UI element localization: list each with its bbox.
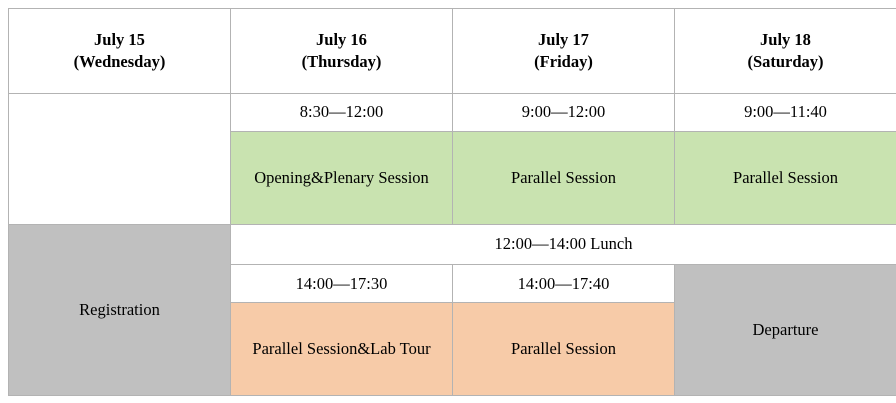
morning-time-thursday: 8:30―12:00 [231,93,453,131]
day-header-weekday: (Friday) [459,51,668,73]
day-header-weekday: (Thursday) [237,51,446,73]
day-header-date: July 18 [681,29,890,51]
day-header-july-16: July 16 (Thursday) [231,9,453,94]
table-row-lunch: Registration 12:00―14:00 Lunch [9,224,896,264]
schedule-container: July 15 (Wednesday) July 16 (Thursday) J… [0,0,896,403]
conference-schedule-table: July 15 (Wednesday) July 16 (Thursday) J… [8,8,896,396]
registration-cell: Registration [9,224,231,395]
afternoon-session-thursday: Parallel Session&Lab Tour [231,303,453,396]
lunch-cell: 12:00―14:00 Lunch [231,224,896,264]
morning-session-saturday: Parallel Session [675,131,896,224]
afternoon-time-friday: 14:00―17:40 [453,264,675,302]
morning-time-friday: 9:00―12:00 [453,93,675,131]
table-row-morning-times: 8:30―12:00 9:00―12:00 9:00―11:40 [9,93,896,131]
day-header-july-15: July 15 (Wednesday) [9,9,231,94]
departure-cell: Departure [675,264,896,395]
empty-cell-july-15-morning [9,93,231,224]
day-header-date: July 17 [459,29,668,51]
day-header-date: July 16 [237,29,446,51]
day-header-july-17: July 17 (Friday) [453,9,675,94]
day-header-july-18: July 18 (Saturday) [675,9,896,94]
afternoon-session-friday: Parallel Session [453,303,675,396]
day-header-date: July 15 [15,29,224,51]
day-header-weekday: (Saturday) [681,51,890,73]
morning-session-friday: Parallel Session [453,131,675,224]
morning-time-saturday: 9:00―11:40 [675,93,896,131]
morning-session-thursday: Opening&Plenary Session [231,131,453,224]
afternoon-time-thursday: 14:00―17:30 [231,264,453,302]
table-row-day-headers: July 15 (Wednesday) July 16 (Thursday) J… [9,9,896,94]
day-header-weekday: (Wednesday) [15,51,224,73]
